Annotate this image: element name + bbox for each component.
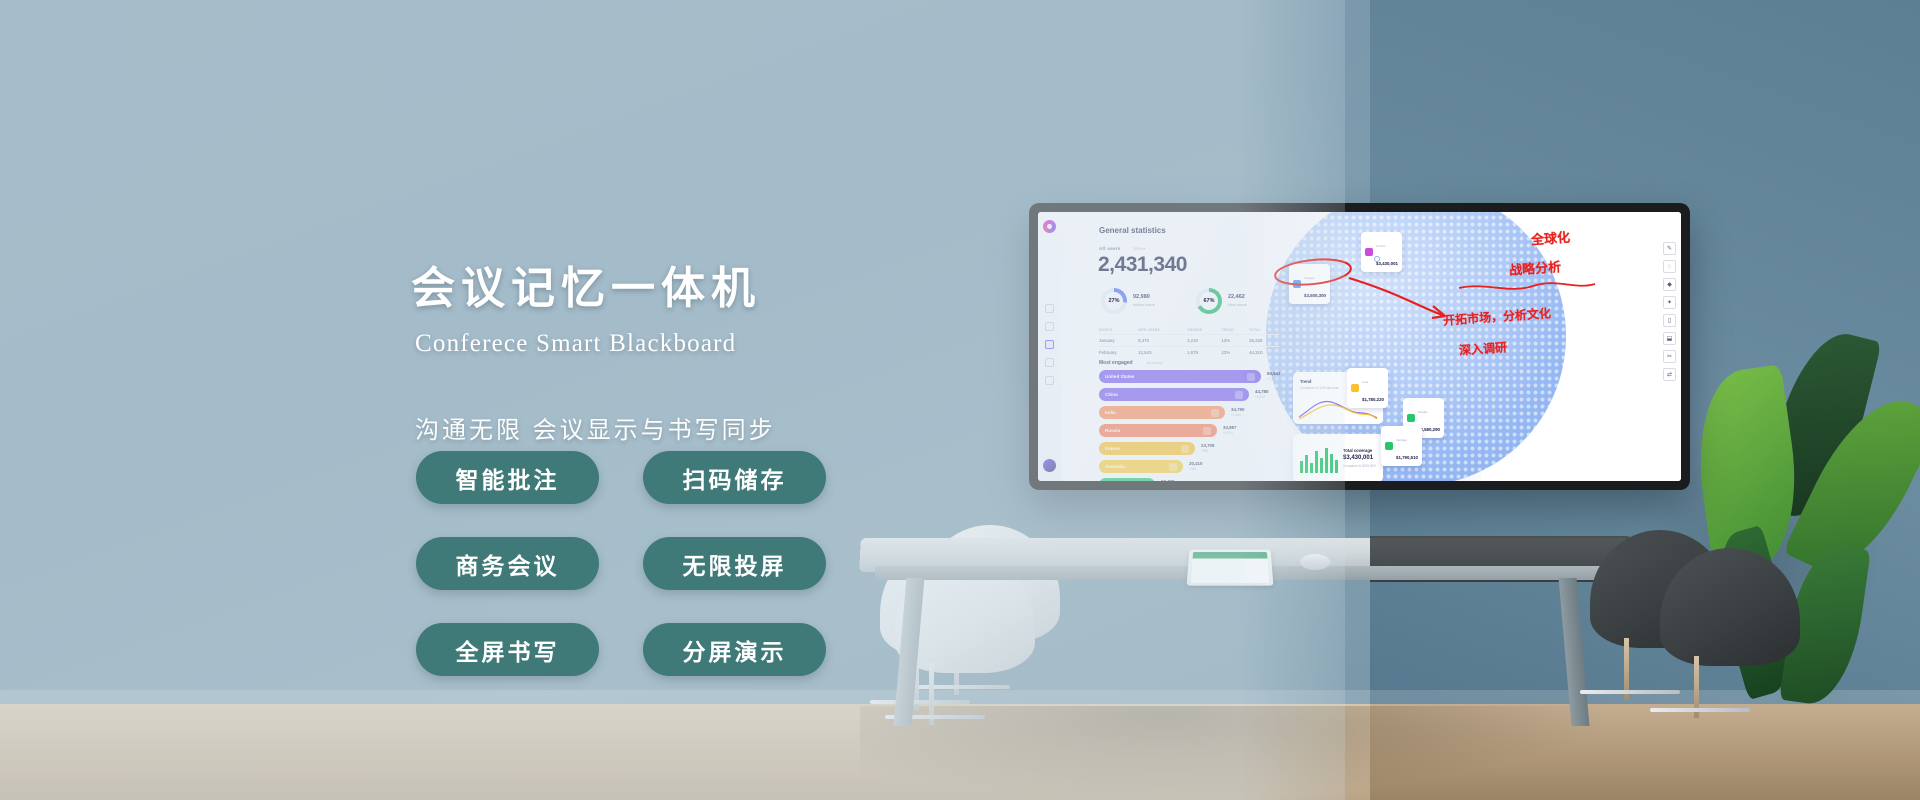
badge-icon (1385, 442, 1393, 450)
smart-blackboard-display[interactable]: General statistics All users 2019 ▾ 2,43… (1029, 203, 1690, 490)
hero-tagline: 沟通无限 会议显示与书写同步 (415, 410, 971, 445)
badge-icon (1293, 280, 1301, 288)
flag-icon (1169, 463, 1177, 471)
delete-icon[interactable]: ▯ (1663, 314, 1676, 327)
coverage-card-title: Total coverage (1343, 448, 1372, 453)
chair-shell (1660, 548, 1800, 666)
feature-button-business-meeting[interactable]: 商务会议 (416, 537, 599, 590)
country-delta: +1,205 (1267, 377, 1277, 381)
country-value: 33,987 (1223, 425, 1236, 430)
chair (1660, 548, 1810, 708)
most-engaged-subtitle: by country (1147, 361, 1163, 365)
flag-icon (1247, 373, 1255, 381)
cell-orders: 3,210 (1187, 335, 1221, 347)
table-floor-shadow (860, 706, 1620, 800)
flag-icon (1181, 445, 1189, 453)
badge-city: Santiago (1396, 438, 1407, 442)
feature-button-smart-annotation[interactable]: 智能批注 (416, 451, 599, 504)
feature-button-fullscreen-write[interactable]: 全屏书写 (416, 623, 599, 676)
map-badge-chicago[interactable]: Chicago $3,500,300 (1289, 264, 1330, 304)
country-label: Russia (1105, 428, 1120, 433)
badge-icon (1365, 248, 1373, 256)
country-delta: +1,012 (1255, 395, 1265, 399)
active-users-donut: 27% (1101, 288, 1127, 314)
new-users-percent: 67% (1196, 288, 1222, 314)
badge-value: $1,790,510 (1396, 455, 1418, 460)
screenshot-icon[interactable]: ✂ (1663, 350, 1676, 363)
most-engaged-title: Most engaged (1099, 360, 1133, 366)
table-row: January 8,470 3,210 13% 25,325 (1099, 335, 1279, 347)
badge-icon (1407, 414, 1415, 422)
map-badge-santiago[interactable]: Santiago $1,790,510 (1381, 426, 1422, 466)
annotation-text: 全球化 (1530, 227, 1570, 249)
badge-city: Brasilia (1418, 410, 1427, 414)
list-item[interactable]: Australia (1099, 460, 1183, 473)
badge-value: $3,500,300 (1304, 293, 1326, 298)
new-users-donut: 67% (1196, 288, 1222, 314)
trend-card-title: Trend (1300, 379, 1311, 384)
map-badge-lima[interactable]: Lima $1,780,220 (1347, 368, 1388, 408)
cell-month: January (1099, 335, 1138, 347)
cell-trend: 13% (1221, 335, 1249, 347)
list-item[interactable]: China (1099, 388, 1249, 401)
sidebar-item-reports[interactable] (1045, 322, 1054, 331)
feature-button-qr-save[interactable]: 扫码储存 (643, 451, 826, 504)
stats-table: MONTH NEW USERS ORDERS TREND TOTAL Janua… (1099, 328, 1279, 358)
list-item[interactable]: United States (1099, 370, 1261, 383)
country-label: Australia (1105, 464, 1125, 469)
flag-icon (1203, 427, 1211, 435)
map-badge-toronto[interactable]: Toronto $3,430,001 (1361, 232, 1402, 272)
tablet-screen (1191, 552, 1269, 583)
display-screen: General statistics All users 2019 ▾ 2,43… (1038, 212, 1681, 481)
page-subtitle: Conferece Smart Blackboard (415, 330, 971, 358)
badge-value: $1,780,220 (1362, 397, 1384, 402)
sidebar-item-dashboard[interactable] (1045, 304, 1054, 313)
country-delta: +481 (1189, 467, 1196, 471)
coverage-card[interactable]: Total coverage $3,430,001 Compared to $2… (1293, 434, 1383, 481)
page-title: 会议记忆一体机 (411, 252, 971, 316)
cell-new-users: 8,470 (1138, 335, 1187, 347)
country-value: 50,541 (1267, 371, 1280, 376)
country-label: United States (1105, 374, 1134, 379)
flag-icon (1235, 391, 1243, 399)
badge-city: Toronto (1376, 244, 1385, 248)
country-delta: +1,440 (1231, 413, 1241, 417)
dashboard-content: General statistics All users 2019 ▾ 2,43… (1061, 212, 1681, 481)
new-users-value: 22,462 (1228, 294, 1245, 300)
active-users-percent: 27% (1101, 288, 1127, 314)
sidebar-item-settings[interactable] (1045, 376, 1054, 385)
conference-mic (1300, 554, 1330, 570)
pen-icon[interactable]: ✎ (1663, 242, 1676, 255)
share-icon[interactable]: ⇄ (1663, 368, 1676, 381)
cell-new-users: 12,543 (1138, 347, 1187, 359)
feature-button-grid: 智能批注 扫码储存 商务会议 无限投屏 全屏书写 分屏演示 (416, 451, 826, 676)
coverage-card-subtitle: Compared to $231,800 (1343, 464, 1376, 468)
page-title: General statistics (1099, 226, 1166, 235)
cell-trend: 23% (1221, 347, 1249, 359)
list-item[interactable]: Russia (1099, 424, 1217, 437)
country-label: India (1105, 410, 1116, 415)
country-value: 12,430 (1161, 479, 1174, 481)
feature-button-split-screen[interactable]: 分屏演示 (643, 623, 826, 676)
annotation-text: 战略分析 (1508, 256, 1561, 279)
country-label: France (1105, 446, 1120, 451)
sidebar-item-database[interactable] (1045, 358, 1054, 367)
feature-button-unlimited-cast[interactable]: 无限投屏 (643, 537, 826, 590)
coverage-card-value: $3,430,001 (1343, 455, 1373, 461)
annotation-text: 深入调研 (1458, 338, 1507, 358)
country-value: 34,790 (1231, 407, 1244, 412)
dashboard-sidebar[interactable] (1038, 212, 1062, 481)
total-users-value: 2,431,340 (1098, 253, 1187, 277)
cell-total: 25,325 (1249, 335, 1279, 347)
hero-copy: 会议记忆一体机 Conferece Smart Blackboard 沟通无限 … (411, 252, 971, 445)
cell-orders: 1,879 (1187, 347, 1221, 359)
stamp-icon[interactable]: ✦ (1663, 296, 1676, 309)
badge-icon (1351, 384, 1359, 392)
country-label: China (1105, 392, 1118, 397)
tablet-device (1187, 550, 1274, 586)
country-delta: +1,091 (1223, 431, 1233, 435)
annotation-toolbar[interactable]: ✎ ◌ ◆ ✦ ▯ ⬓ ✂ ⇄ (1663, 242, 1676, 381)
map-pin[interactable] (1374, 256, 1380, 262)
coverage-bar-chart (1299, 445, 1339, 475)
list-item[interactable]: France (1099, 442, 1195, 455)
sidebar-item-globe[interactable] (1045, 340, 1054, 349)
shape-icon[interactable]: ◆ (1663, 278, 1676, 291)
app-logo-icon (1043, 220, 1056, 233)
chair-foot (1650, 708, 1750, 712)
country-value: 44,780 (1255, 389, 1268, 394)
new-users-label: New users (1228, 302, 1247, 307)
table-row: February 12,543 1,879 23% 44,310 (1099, 347, 1279, 359)
cell-total: 44,310 (1249, 347, 1279, 359)
avatar[interactable] (1043, 459, 1056, 472)
eraser-icon[interactable]: ◌ (1663, 260, 1676, 273)
country-delta: +962 (1201, 449, 1208, 453)
badge-city: Chicago (1304, 276, 1314, 280)
cell-month: February (1099, 347, 1138, 359)
flag-icon (1211, 409, 1219, 417)
badge-value: $3,430,001 (1376, 261, 1398, 266)
all-users-label: All users (1099, 246, 1121, 251)
list-item[interactable]: Spain (1099, 478, 1155, 481)
hero-banner: General statistics All users 2019 ▾ 2,43… (0, 0, 1920, 800)
badge-city: Lima (1362, 380, 1368, 384)
period-selector[interactable]: 2019 ▾ (1133, 246, 1145, 251)
active-users-value: 92,980 (1133, 294, 1150, 300)
flag-icon (1141, 481, 1149, 482)
save-icon[interactable]: ⬓ (1663, 332, 1676, 345)
active-users-label: Active users (1133, 302, 1155, 307)
trend-card-subtitle: Compared to 12% last year (1300, 386, 1339, 390)
list-item[interactable]: India (1099, 406, 1225, 419)
country-value: 23,709 (1201, 443, 1214, 448)
country-value: 20,410 (1189, 461, 1202, 466)
